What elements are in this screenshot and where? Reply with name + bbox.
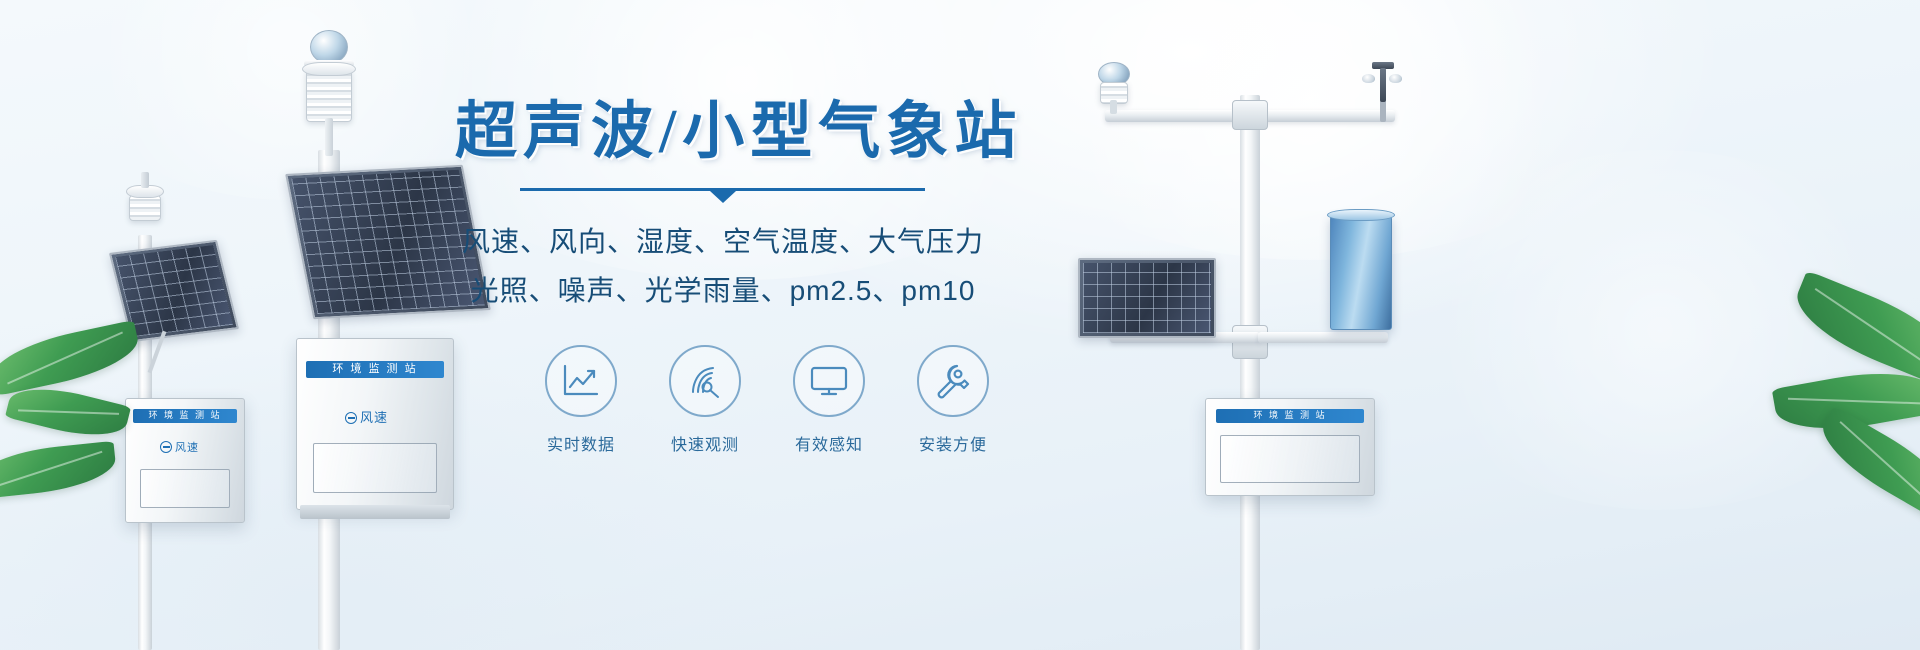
equipment-cabinet-right: 环 境 监 测 站 xyxy=(1205,398,1375,496)
cloud-decoration xyxy=(1000,0,1620,260)
title-divider xyxy=(520,188,925,191)
equipment-cabinet-center: 环 境 监 测 站 风速 xyxy=(296,338,454,510)
ultrasonic-sensor-dome xyxy=(310,30,348,64)
leaf-decoration xyxy=(0,441,118,499)
mast-pole-right xyxy=(1240,95,1260,650)
radar-signal-icon xyxy=(685,362,725,400)
cabinet-door-center xyxy=(313,443,437,493)
arm-clamp-top xyxy=(1232,100,1268,130)
feature-label: 快速观测 xyxy=(664,431,746,455)
anemometer-cup xyxy=(1362,74,1375,83)
leaf-decoration xyxy=(1785,270,1920,387)
feature-icon-row: 实时数据 快速观测 有效感知 xyxy=(540,345,994,455)
rain-gauge xyxy=(1330,215,1392,330)
sensor-stem-left xyxy=(141,172,149,188)
feature-label: 有效感知 xyxy=(788,431,870,455)
solar-cells xyxy=(1083,263,1211,333)
solar-panel-right xyxy=(1078,258,1216,338)
line-chart-icon xyxy=(561,363,601,399)
brand-logo-center: 风速 xyxy=(345,407,388,426)
rain-gauge-funnel xyxy=(1327,209,1395,221)
feature-label: 实时数据 xyxy=(540,431,622,455)
leaf-decoration xyxy=(0,320,143,396)
anemometer-cup xyxy=(1389,74,1402,83)
cabinet-band-label: 环 境 监 测 站 xyxy=(133,409,237,423)
feature-icon-circle xyxy=(793,345,865,417)
copy-block: 超声波/小型气象站 风速、风向、湿度、空气温度、大气压力 光照、噪声、光学雨量、… xyxy=(455,100,1035,315)
sensor-stem-right xyxy=(1110,100,1117,114)
monitor-icon xyxy=(809,364,849,398)
cabinet-band-label: 环 境 监 测 站 xyxy=(1216,409,1364,423)
cabinet-band-label: 环 境 监 测 站 xyxy=(306,361,443,378)
brand-mark-icon xyxy=(160,441,172,453)
wind-vane-shaft xyxy=(1380,68,1386,102)
radiation-shield-center xyxy=(306,70,352,122)
subtitle-line-2: 光照、噪声、光学雨量、pm2.5、pm10 xyxy=(458,266,988,315)
page-title: 超声波/小型气象站 xyxy=(455,100,1035,166)
vane-mount xyxy=(1380,100,1386,122)
product-banner: 环 境 监 测 站 风速 环 境 监 测 站 风速 xyxy=(0,0,1920,650)
brand-logo-left: 风速 xyxy=(160,439,199,455)
cabinet-door-right xyxy=(1220,435,1360,483)
brand-mark-icon xyxy=(345,412,357,424)
feature-label: 安装方便 xyxy=(912,431,994,455)
feature-easy-installation[interactable]: 安装方便 xyxy=(912,345,994,455)
feature-icon-circle xyxy=(545,345,617,417)
feature-realtime-data[interactable]: 实时数据 xyxy=(540,345,622,455)
feature-effective-sensing[interactable]: 有效感知 xyxy=(788,345,870,455)
cabinet-base-center xyxy=(300,505,450,519)
feature-icon-circle xyxy=(917,345,989,417)
radiation-shield-cap-center xyxy=(302,62,356,76)
cabinet-door-left xyxy=(140,469,230,508)
wrench-icon xyxy=(933,362,973,400)
feature-list: 风速、风向、湿度、空气温度、大气压力 光照、噪声、光学雨量、pm2.5、pm10 xyxy=(458,217,988,315)
leaf-decoration xyxy=(1810,406,1920,523)
subtitle-line-1: 风速、风向、湿度、空气温度、大气压力 xyxy=(458,217,988,266)
feature-fast-observation[interactable]: 快速观测 xyxy=(664,345,746,455)
gauge-shelf-arm xyxy=(1258,332,1388,343)
sensor-stem-center xyxy=(325,118,333,156)
feature-icon-circle xyxy=(669,345,741,417)
equipment-cabinet-left: 环 境 监 测 站 风速 xyxy=(125,398,245,523)
radiation-shield-left xyxy=(129,195,161,221)
